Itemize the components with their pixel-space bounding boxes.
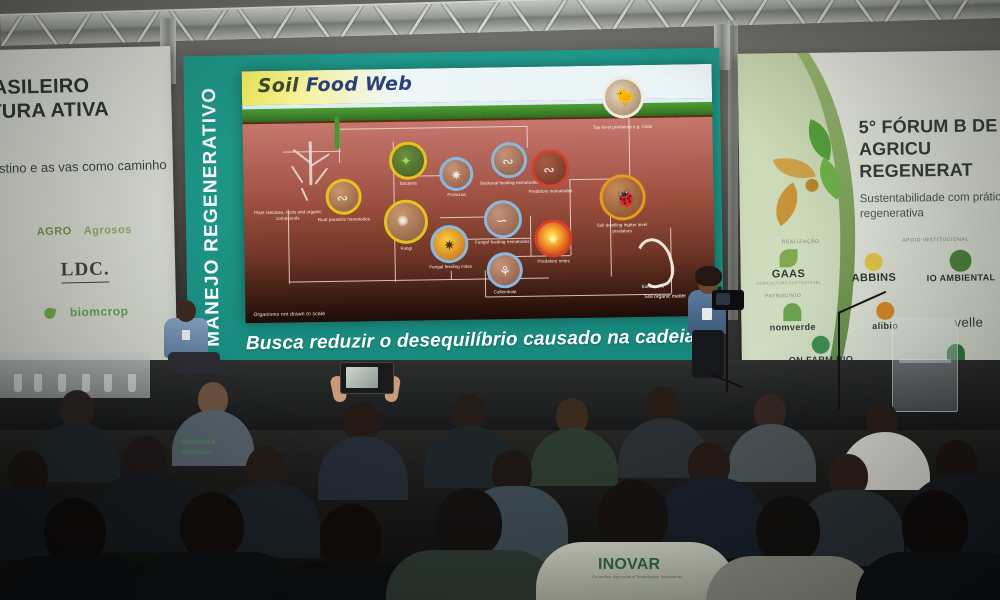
label-top-level-predators: Top level predators e.g. birds	[592, 124, 652, 131]
logo-row-1: AGRO Agrosos	[0, 223, 174, 239]
logo-row-3: biomcrop	[0, 303, 176, 321]
node-bacterial-feeding-nematodes: ∾	[491, 142, 528, 179]
slide-title-foodweb: Food Web	[306, 73, 413, 97]
alibio-icon	[876, 302, 894, 320]
io-ambiental-icon	[950, 250, 972, 272]
logo-row-2: LDC.	[0, 257, 176, 285]
label-fungal-feeding-mites: Fungal feeding mites	[421, 264, 481, 271]
slide-title: Soil Food Web	[258, 73, 413, 97]
node-root-parasitic-nematodes: ∾	[325, 178, 362, 215]
node-fungal-feeding-nematodes: ∽	[484, 200, 523, 239]
banner-right-title: 5° FÓRUM B DE AGRICU REGENERAT	[859, 114, 1000, 183]
sponsor-row-1: GAAS AGRICULTURA SUSTENTÁVEL ABBINS IO A…	[740, 246, 1000, 286]
node-bacteria: ✦	[389, 141, 428, 180]
sponsor-abbins: ABBINS	[851, 253, 896, 285]
slide-footnote: Organisms not drawn to scale	[253, 311, 325, 318]
mite-icon: ✷	[547, 232, 559, 246]
logo-agro: AGRO	[37, 225, 72, 238]
leaf-icon-green-1	[801, 119, 840, 160]
audience-shoulders-front	[856, 552, 1000, 600]
leaf-icon	[43, 306, 56, 319]
label-predatory-nematodes: Predatory nematodes	[520, 188, 580, 195]
label-bacterial-feeding-nematodes: Bacterial feeding nematodes	[479, 180, 539, 187]
slide-soil-profile: Plant residues, roots and organic compou…	[242, 117, 715, 323]
banner-left-logos: AGRO Agrosos LDC. biomcrop	[0, 211, 176, 321]
sponsor-io-ambiental: IO AMBIENTAL	[926, 249, 995, 283]
sponsor-tag: AGRICULTURA SUSTENTÁVEL	[756, 280, 821, 286]
node-predatory-nematodes: ∾	[531, 149, 570, 188]
nematode-icon: ∾	[502, 154, 514, 168]
audience-head-front	[902, 490, 968, 560]
sponsor-header-realizacao: REALIZAÇÃO	[782, 239, 820, 246]
stage-backdrop-panel: MANEJO REGENERATIVO Soil Food Web	[183, 48, 724, 396]
projected-slide: Soil Food Web	[242, 64, 716, 323]
leaf-icon-gold-2	[764, 182, 809, 226]
audience-shoulders	[728, 424, 816, 482]
seated-panelist-legs	[168, 352, 220, 374]
node-fungi: ✺	[384, 199, 429, 244]
node-soil-dwelling-higher-level-predators: 🐞	[599, 174, 646, 221]
sponsor-name: nomverde	[770, 322, 816, 333]
label-bacteria: Bacteria	[378, 180, 438, 187]
sponsor-header-apoio: APOIO INSTITUCIONAL	[902, 237, 969, 244]
sponsor-name: IO AMBIENTAL	[927, 272, 996, 283]
video-camera	[712, 290, 744, 310]
shirt-hashtag-1: #SouGAAS	[182, 440, 216, 446]
bird-icon: 🐤	[615, 90, 635, 106]
speaker-hair	[695, 266, 722, 286]
node-protozoa: ✷	[439, 157, 474, 192]
amoeba-icon: ✷	[450, 168, 462, 182]
audience-head-front	[180, 492, 244, 560]
banner-right-subtitle: Sustentabilidade com práticas regenerati…	[860, 190, 1000, 223]
plant-stem-icon	[334, 117, 340, 149]
sponsor-name: GAAS	[756, 268, 821, 281]
seated-panelist-badge	[182, 330, 190, 340]
presentation-scene: BRASILEIRO ULTURA ATIVA mo destino e as …	[0, 0, 1000, 600]
nematode-icon: ∾	[336, 191, 348, 205]
banner-right: 5° FÓRUM B DE AGRICU REGENERAT Sustentab…	[738, 50, 1000, 389]
fungi-icon: ✺	[397, 214, 409, 228]
inovar-shirt-tagline: Conexões Agrícolas e Tecnologias Inovado…	[592, 574, 712, 579]
speaker-badge	[702, 308, 712, 320]
seated-panelist-head	[176, 300, 196, 322]
logo-ldc: LDC.	[61, 258, 110, 283]
node-predatory-mites: ✷	[534, 219, 573, 258]
web-edge	[339, 126, 527, 130]
label-protozoa: Protozoa	[427, 191, 487, 198]
mite-icon: ✷	[443, 238, 455, 252]
banner-left-subtitle: mo destino e as vas como caminho	[0, 156, 168, 179]
inovar-shirt-logo: INOVAR	[598, 556, 660, 574]
label-fungal-feeding-nematodes: Fungal feeding nematodes	[472, 239, 532, 246]
abbins-icon	[865, 253, 883, 271]
shirt-hashtag-2: #SouSust	[182, 450, 211, 456]
banner-left: BRASILEIRO ULTURA ATIVA mo destino e as …	[0, 46, 178, 385]
beetle-icon: 🐞	[615, 189, 638, 207]
sponsor-velle: velle	[954, 314, 983, 329]
seed-dot-icon	[805, 179, 818, 192]
node-collembola: ⚘	[486, 252, 523, 289]
sponsor-gaas: GAAS AGRICULTURA SUSTENTÁVEL	[756, 249, 822, 286]
slide-title-soil: Soil	[258, 74, 306, 97]
audience-shoulders	[530, 428, 618, 486]
smartphone-screen[interactable]	[340, 362, 394, 394]
logo-biomcrop: biomcrop	[70, 304, 129, 319]
web-edge	[530, 216, 532, 256]
audience-shoulders	[172, 410, 254, 466]
speaker-legs	[692, 330, 724, 378]
audience-head-front	[44, 498, 106, 564]
web-edge	[526, 126, 527, 148]
forum-leaf-logo	[765, 120, 863, 231]
banner-left-title: BRASILEIRO ULTURA ATIVA	[0, 72, 164, 125]
audience-head-front	[436, 488, 502, 558]
sponsor-name: velle	[954, 314, 983, 329]
audience-shoulders-front	[386, 550, 558, 600]
label-fungi: Fungi	[376, 245, 436, 252]
audience-shoulders-front	[706, 556, 876, 600]
sponsor-block: REALIZAÇÃO APOIO INSTITUCIONAL GAAS AGRI…	[740, 236, 1000, 366]
nematode-icon: ∽	[496, 213, 508, 227]
web-edge	[451, 271, 452, 279]
audience-shoulders	[318, 436, 408, 500]
truss-vertical-post-3	[728, 20, 738, 320]
gaas-leaf-icon	[779, 249, 797, 267]
nematode-icon: ∾	[543, 162, 555, 176]
audience-head-front	[756, 496, 820, 564]
audience: #SouGAAS #SouSust	[0, 380, 1000, 600]
label-collembola: Collembola	[475, 289, 535, 296]
node-fungal-feeding-mites: ✷	[430, 225, 469, 264]
logo-agrosos: Agrosos	[84, 224, 132, 237]
audience-shoulders-front	[130, 552, 298, 600]
springtail-icon: ⚘	[499, 264, 512, 278]
onfarmbio-icon	[812, 336, 830, 354]
label-predatory-mites: Predatory mites	[524, 258, 584, 265]
label-root-parasitic-nematodes: Root parasitic nematodes	[314, 216, 374, 223]
label-soil-organic-matter: Soil organic matter	[637, 293, 693, 300]
sponsor-row-2: nomverde alibio velle	[741, 300, 1000, 333]
sponsor-name: ABBINS	[852, 272, 897, 285]
bacteria-icon: ✦	[400, 154, 412, 168]
sponsor-nomverde: nomverde	[769, 303, 816, 333]
label-soil-dwelling-higher-level-predators: Soil dwelling higher level predators	[592, 222, 652, 234]
nomverde-icon	[783, 303, 801, 321]
label-earthworm: Earthworm	[623, 283, 683, 290]
leaf-icon-green-2	[809, 158, 853, 200]
audience-head-front	[320, 504, 382, 570]
